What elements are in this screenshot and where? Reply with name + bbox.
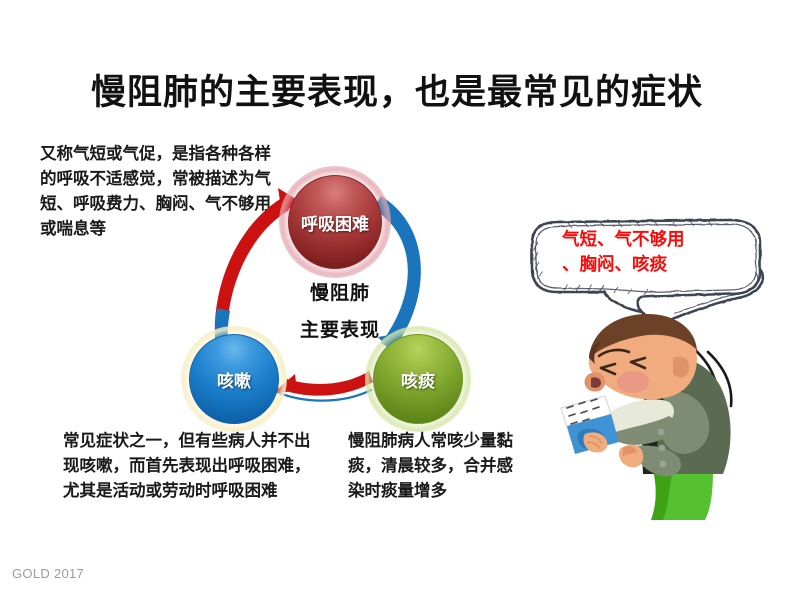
diagram-center-line1: 慢阻肺	[180, 278, 500, 305]
cough-description-text: 常见症状之一，但有些病人并不出现咳嗽，而首先表现出呼吸困难，尤其是活动或劳动时呼…	[63, 428, 313, 503]
footer-label: GOLD 2017	[12, 566, 84, 581]
diagram-center-line2: 主要表现	[180, 315, 500, 342]
diagram-node-sputum-label: 咳痰	[401, 367, 435, 392]
speech-bubble-line1: 气短、气不够用	[562, 228, 762, 253]
coughing-man-illustration	[545, 296, 785, 556]
cheek-blush	[617, 371, 649, 393]
jacket-button	[659, 445, 666, 452]
arrow-sputum-to-cough	[283, 371, 373, 396]
coughing-man-svg	[545, 296, 785, 556]
speech-bubble-text: 气短、气不够用 、胸闷、咳痰	[562, 228, 762, 279]
cycle-diagram: 呼吸困难 咳嗽 咳痰 慢阻肺 主要表现	[175, 160, 495, 425]
sputum-description-text: 慢阻肺病人常咳少量黏痰，清晨较多，合并感染时痰量增多	[348, 428, 523, 503]
diagram-node-cough-label: 咳嗽	[217, 367, 251, 392]
jacket-button	[660, 461, 667, 468]
speech-bubble-line2: 、胸闷、咳痰	[562, 253, 762, 278]
page-title: 慢阻肺的主要表现，也是最常见的症状	[0, 64, 794, 115]
diagram-node-dyspnea-label: 呼吸困难	[301, 210, 369, 235]
jacket-button	[658, 429, 665, 436]
diagram-node-dyspnea[interactable]: 呼吸困难	[288, 175, 382, 269]
diagram-node-cough[interactable]: 咳嗽	[189, 334, 279, 424]
diagram-node-sputum[interactable]: 咳痰	[373, 334, 463, 424]
